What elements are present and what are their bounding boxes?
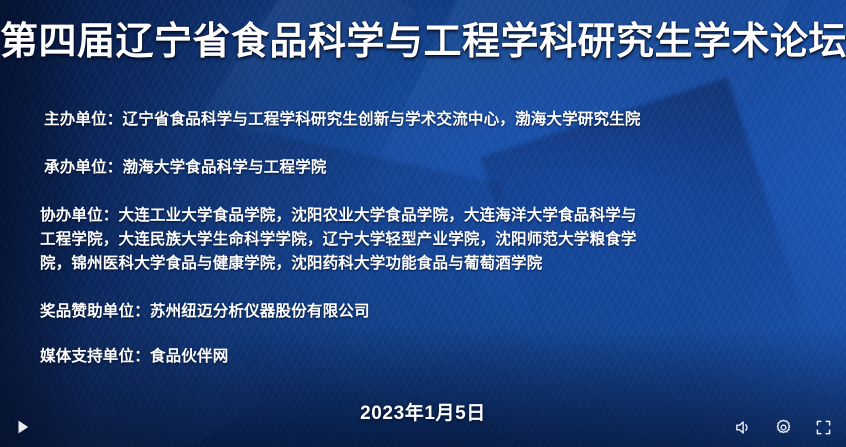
player-control-bar <box>0 407 846 447</box>
player-controls-right <box>732 416 834 438</box>
video-player-slide: 第四届辽宁省食品科学与工程学科研究生学术论坛 主办单位：辽宁省食品科学与工程学科… <box>0 0 846 447</box>
media-support-block: 媒体支持单位：食品伙伴网 <box>40 345 816 368</box>
play-icon[interactable] <box>12 416 34 438</box>
settings-gear-icon[interactable] <box>772 416 794 438</box>
co-organizer-line-1: 协办单位：大连工业大学食品学院，沈阳农业大学食品学院，大连海洋大学食品科学与 <box>40 204 826 228</box>
co-organizer-block: 协办单位：大连工业大学食品学院，沈阳农业大学食品学院，大连海洋大学食品科学与 工… <box>40 204 826 276</box>
slide-content: 第四届辽宁省食品科学与工程学科研究生学术论坛 主办单位：辽宁省食品科学与工程学科… <box>0 0 846 447</box>
prize-sponsor-block: 奖品赞助单位：苏州纽迈分析仪器股份有限公司 <box>40 300 816 323</box>
organizer-line: 承办单位：渤海大学食品科学与工程学院 <box>44 156 816 179</box>
host-organization-block: 主办单位：辽宁省食品科学与工程学科研究生创新与学术交流中心，渤海大学研究生院 <box>44 108 816 131</box>
media-support-line: 媒体支持单位：食品伙伴网 <box>40 345 816 368</box>
co-organizer-line-2: 工程学院，大连民族大学生命科学学院，辽宁大学轻型产业学院，沈阳师范大学粮食学 <box>40 228 826 252</box>
host-organization-line: 主办单位：辽宁省食品科学与工程学科研究生创新与学术交流中心，渤海大学研究生院 <box>44 108 816 131</box>
volume-icon[interactable] <box>732 416 754 438</box>
organizer-block: 承办单位：渤海大学食品科学与工程学院 <box>44 156 816 179</box>
player-controls-left <box>12 416 34 438</box>
prize-sponsor-line: 奖品赞助单位：苏州纽迈分析仪器股份有限公司 <box>40 300 816 323</box>
co-organizer-line-3: 院，锦州医科大学食品与健康学院，沈阳药科大学功能食品与葡萄酒学院 <box>40 252 826 276</box>
fullscreen-icon[interactable] <box>812 416 834 438</box>
slide-title: 第四届辽宁省食品科学与工程学科研究生学术论坛 <box>0 22 846 64</box>
